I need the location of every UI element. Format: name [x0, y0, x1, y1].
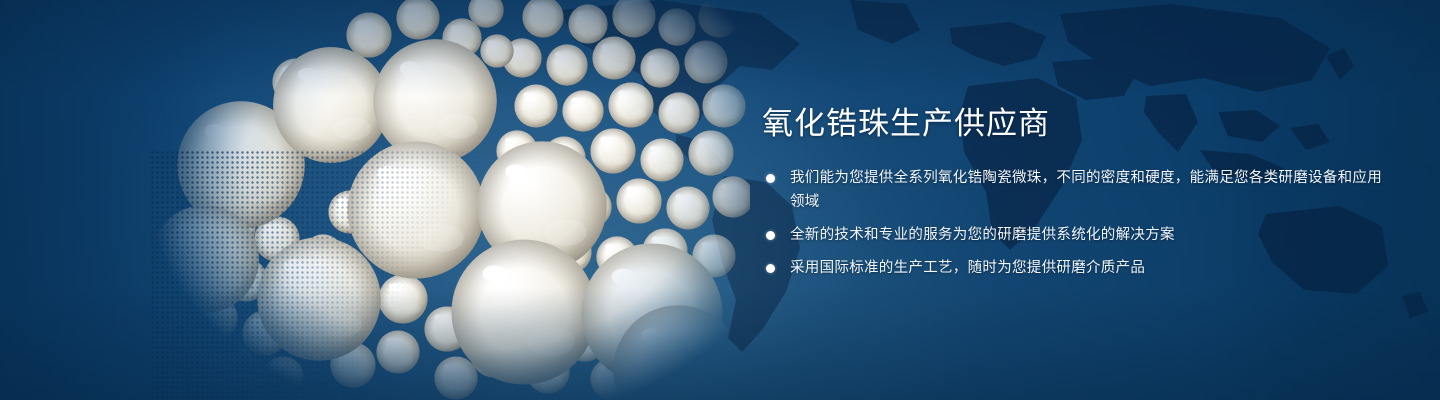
- list-item-text: 我们能为您提供全系列氧化锆陶瓷微珠，不同的密度和硬度，能满足您各类研磨设备和应用…: [790, 170, 1382, 210]
- list-item: 采用国际标准的生产工艺，随时为您提供研磨介质产品: [762, 256, 1382, 280]
- list-item: 我们能为您提供全系列氧化锆陶瓷微珠，不同的密度和硬度，能满足您各类研磨设备和应用…: [762, 166, 1382, 214]
- banner-feature-list: 我们能为您提供全系列氧化锆陶瓷微珠，不同的密度和硬度，能满足您各类研磨设备和应用…: [762, 166, 1382, 280]
- zirconia-beads-photo: [150, 0, 750, 400]
- list-item-text: 全新的技术和专业的服务为您的研磨提供系统化的解决方案: [790, 227, 1175, 243]
- list-item-text: 采用国际标准的生产工艺，随时为您提供研磨介质产品: [790, 260, 1145, 276]
- hero-banner: 氧化锆珠生产供应商 我们能为您提供全系列氧化锆陶瓷微珠，不同的密度和硬度，能满足…: [0, 0, 1440, 400]
- bullet-dot-icon: [766, 174, 775, 183]
- list-item: 全新的技术和专业的服务为您的研磨提供系统化的解决方案: [762, 223, 1382, 247]
- banner-text-block: 氧化锆珠生产供应商 我们能为您提供全系列氧化锆陶瓷微珠，不同的密度和硬度，能满足…: [762, 104, 1382, 280]
- banner-headline: 氧化锆珠生产供应商: [762, 104, 1382, 144]
- bullet-dot-icon: [766, 264, 775, 273]
- bullet-dot-icon: [766, 231, 775, 240]
